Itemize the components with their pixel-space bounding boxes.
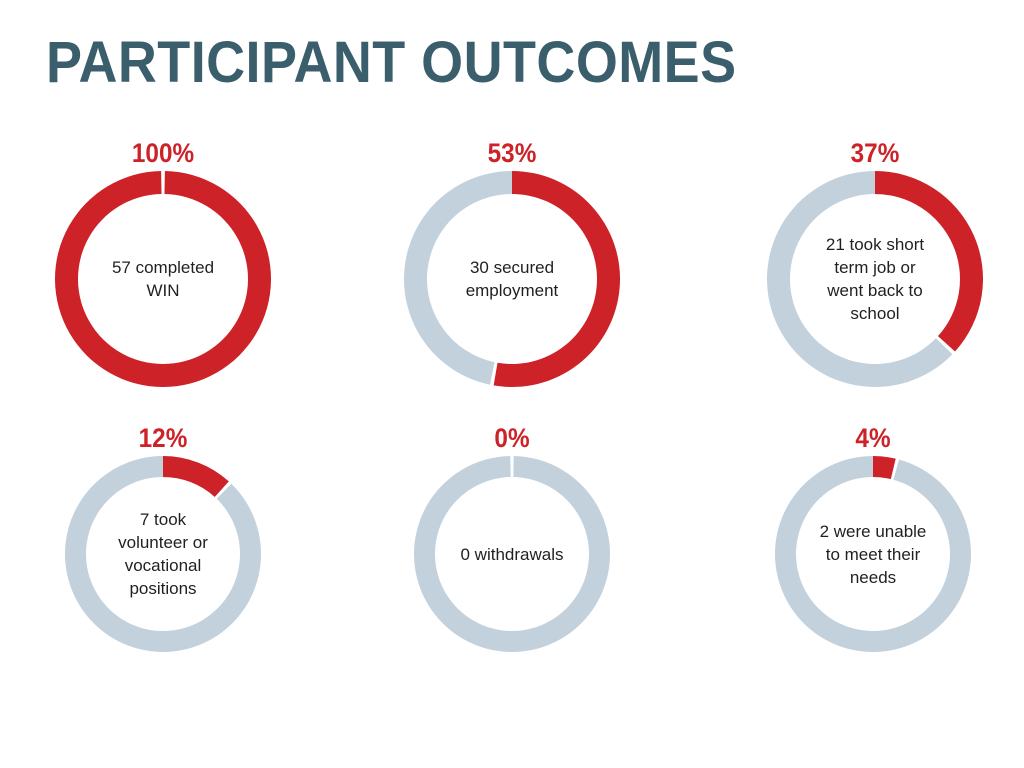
donut-chart-volunteer-vocational: 12% 7 took volunteer or vocational posit… — [65, 424, 261, 657]
percent-label: 37% — [778, 139, 972, 167]
donut-svg-2 — [767, 171, 983, 387]
donut-chart-secured-employment: 53% 30 secured employment — [404, 139, 620, 392]
donut-svg-5 — [775, 456, 971, 652]
donut-svg-1 — [404, 171, 620, 387]
donut-chart-withdrawals: 0% 0 withdrawals — [414, 424, 610, 657]
donut-chart-unable-to-meet-needs: 4% 2 were unable to meet their needs — [775, 424, 971, 657]
donut-svg-0 — [55, 171, 271, 387]
donut-chart-grid: 100% 57 completed WIN 53% 30 secured emp… — [0, 0, 1024, 768]
donut-ring: 21 took short term job or went back to s… — [767, 171, 983, 387]
percent-label: 0% — [424, 424, 600, 452]
donut-ring: 0 withdrawals — [414, 456, 610, 652]
percent-label: 4% — [785, 424, 961, 452]
donut-svg-3 — [65, 456, 261, 652]
percent-label: 100% — [66, 139, 260, 167]
donut-ring: 57 completed WIN — [55, 171, 271, 387]
percent-label: 53% — [415, 139, 609, 167]
percent-label: 12% — [75, 424, 251, 452]
donut-chart-completed-win: 100% 57 completed WIN — [55, 139, 271, 392]
donut-svg-4 — [414, 456, 610, 652]
donut-ring: 30 secured employment — [404, 171, 620, 387]
donut-chart-short-term-job-or-school: 37% 21 took short term job or went back … — [767, 139, 983, 392]
donut-ring: 7 took volunteer or vocational positions — [65, 456, 261, 652]
donut-ring: 2 were unable to meet their needs — [775, 456, 971, 652]
